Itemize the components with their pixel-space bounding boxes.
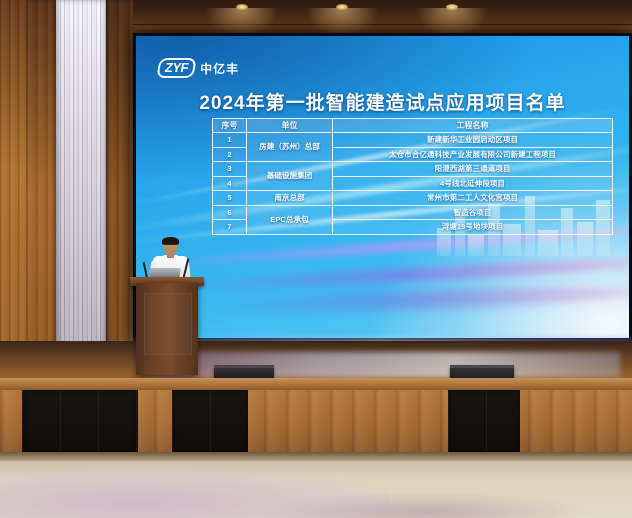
floor-carpet-pattern <box>260 492 590 518</box>
glasses-icon <box>164 244 177 248</box>
ceiling-downlight-icon <box>336 4 348 10</box>
podium <box>136 283 198 375</box>
led-screen: ZYF 中亿丰 2024年第一批智能建造试点应用项目名单 序号 单位 工程名称 … <box>136 36 629 338</box>
ceiling-downlight-icon <box>446 4 458 10</box>
acoustic-panel <box>172 390 248 454</box>
stage-edge-lip <box>0 378 632 390</box>
podium-front-panel <box>144 293 192 355</box>
ceiling-downlight-icon <box>236 4 248 10</box>
acoustic-panel <box>22 390 138 454</box>
conference-hall-photo: ZYF 中亿丰 2024年第一批智能建造试点应用项目名单 序号 单位 工程名称 … <box>0 0 632 518</box>
acoustic-panel <box>448 390 520 454</box>
floor-front-strip <box>0 452 632 461</box>
led-pixel-grid <box>136 36 629 338</box>
